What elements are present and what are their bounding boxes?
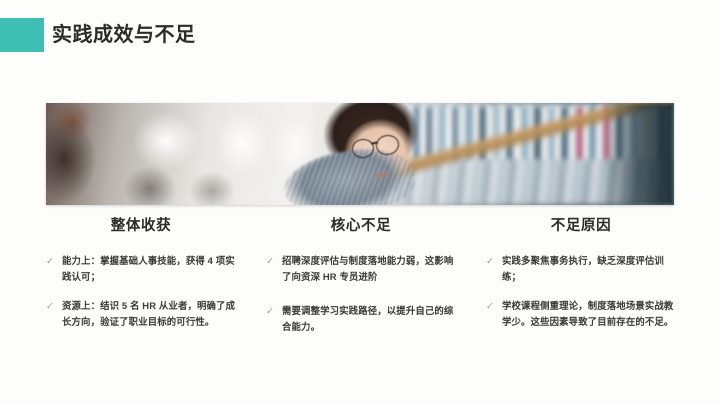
column-overall-gains: 整体收获 ✓ 能力上：掌握基础人事技能，获得 4 项实践认可； ✓ 资源上：结识… bbox=[46, 214, 236, 353]
content-columns: 整体收获 ✓ 能力上：掌握基础人事技能，获得 4 项实践认可； ✓ 资源上：结识… bbox=[46, 214, 674, 353]
check-icon: ✓ bbox=[486, 254, 497, 269]
list-item-text: 招聘深度评估与制度落地能力弱，这影响了向资深 HR 专员进阶 bbox=[282, 253, 456, 284]
list-item: ✓ 能力上：掌握基础人事技能，获得 4 项实践认可； bbox=[46, 253, 236, 284]
list-item-text: 实践多聚焦事务执行，缺乏深度评估训练； bbox=[502, 253, 676, 284]
bullet-list: ✓ 招聘深度评估与制度落地能力弱，这影响了向资深 HR 专员进阶 ✓ 需要调整学… bbox=[266, 253, 456, 334]
list-item-text: 学校课程侧重理论，制度落地场景实战教学少。这些因素导致了目前存在的不足。 bbox=[502, 298, 676, 329]
list-item-text: 能力上：掌握基础人事技能，获得 4 项实践认可； bbox=[62, 253, 236, 284]
bullet-list: ✓ 实践多聚焦事务执行，缺乏深度评估训练； ✓ 学校课程侧重理论，制度落地场景实… bbox=[486, 253, 676, 329]
column-shortcoming-causes: 不足原因 ✓ 实践多聚焦事务执行，缺乏深度评估训练； ✓ 学校课程侧重理论，制度… bbox=[486, 214, 676, 353]
check-icon: ✓ bbox=[46, 299, 57, 314]
check-icon: ✓ bbox=[266, 254, 277, 269]
list-item: ✓ 招聘深度评估与制度落地能力弱，这影响了向资深 HR 专员进阶 bbox=[266, 253, 456, 284]
list-item: ✓ 需要调整学习实践路径，以提升自己的综合能力。 bbox=[266, 303, 456, 334]
slide-title-row: 实践成效与不足 bbox=[0, 18, 196, 52]
column-heading: 不足原因 bbox=[486, 214, 676, 235]
dark-edge-vignette bbox=[600, 103, 674, 205]
hero-image bbox=[46, 103, 674, 205]
person-figure bbox=[278, 103, 458, 205]
list-item-text: 需要调整学习实践路径，以提升自己的综合能力。 bbox=[282, 303, 456, 334]
check-icon: ✓ bbox=[46, 254, 57, 269]
column-heading: 整体收获 bbox=[46, 214, 236, 235]
list-item-text: 资源上：结识 5 名 HR 从业者，明确了成长方向，验证了职业目标的可行性。 bbox=[62, 298, 236, 329]
page-title: 实践成效与不足 bbox=[52, 25, 196, 45]
title-accent-block bbox=[0, 18, 44, 52]
slide: 实践成效与不足 bbox=[0, 0, 720, 405]
bullet-list: ✓ 能力上：掌握基础人事技能，获得 4 项实践认可； ✓ 资源上：结识 5 名 … bbox=[46, 253, 236, 329]
check-icon: ✓ bbox=[266, 304, 277, 319]
list-item: ✓ 学校课程侧重理论，制度落地场景实战教学少。这些因素导致了目前存在的不足。 bbox=[486, 298, 676, 329]
check-icon: ✓ bbox=[486, 299, 497, 314]
column-heading: 核心不足 bbox=[266, 214, 456, 235]
list-item: ✓ 实践多聚焦事务执行，缺乏深度评估训练； bbox=[486, 253, 676, 284]
list-item: ✓ 资源上：结识 5 名 HR 从业者，明确了成长方向，验证了职业目标的可行性。 bbox=[46, 298, 236, 329]
column-core-shortcomings: 核心不足 ✓ 招聘深度评估与制度落地能力弱，这影响了向资深 HR 专员进阶 ✓ … bbox=[266, 214, 456, 353]
